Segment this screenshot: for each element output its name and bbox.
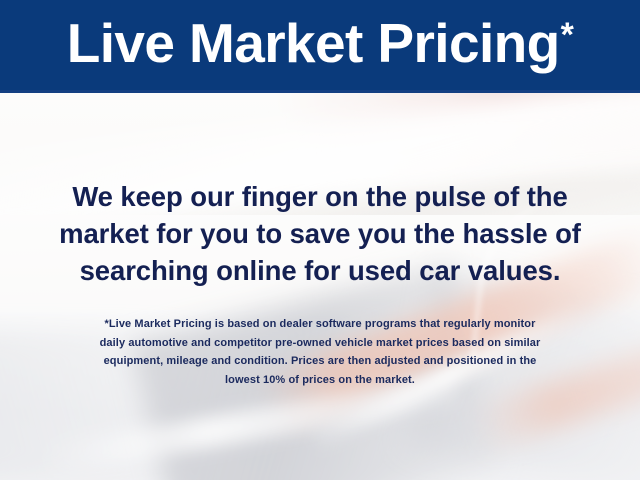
- banner-title: Live Market Pricing*: [67, 16, 574, 75]
- headline-text: We keep our finger on the pulse of the m…: [0, 178, 640, 289]
- header-banner: Live Market Pricing*: [0, 0, 640, 93]
- disclaimer-line-4: lowest 10% of prices on the market.: [30, 371, 610, 390]
- banner-title-asterisk: *: [561, 16, 574, 54]
- disclaimer-text: *Live Market Pricing is based on dealer …: [0, 315, 640, 389]
- headline-line-3: searching online for used car values.: [22, 252, 618, 289]
- live-market-pricing-promo: Live Market Pricing* We keep our finger …: [0, 0, 640, 480]
- disclaimer-line-3: equipment, mileage and condition. Prices…: [30, 352, 610, 371]
- disclaimer-line-1: *Live Market Pricing is based on dealer …: [30, 315, 610, 334]
- headline-line-1: We keep our finger on the pulse of the: [22, 178, 618, 215]
- headline-line-2: market for you to save you the hassle of: [22, 215, 618, 252]
- disclaimer-line-2: daily automotive and competitor pre-owne…: [30, 334, 610, 353]
- banner-title-text: Live Market Pricing: [67, 12, 560, 74]
